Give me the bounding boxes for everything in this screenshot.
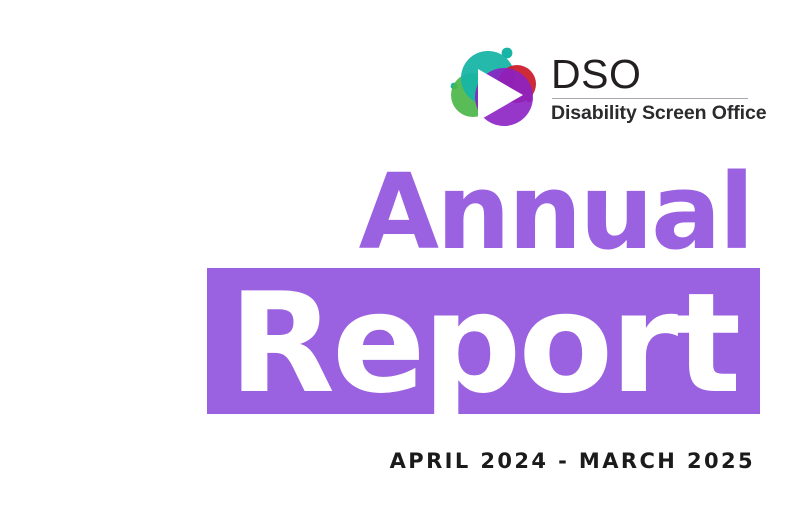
title-line-report: Report <box>207 268 760 414</box>
dso-play-circles-logo-icon <box>447 44 545 132</box>
title-band-wrapper: Report <box>0 268 800 418</box>
logo-divider-rule <box>552 98 748 99</box>
dso-logo-wordmark: DSO Disability Screen Office <box>551 52 766 124</box>
dso-logo-lockup: DSO Disability Screen Office <box>447 42 759 134</box>
report-date-range: APRIL 2024 - MARCH 2025 <box>0 449 800 473</box>
title-line-annual: Annual <box>0 160 800 268</box>
report-title-block: Annual Report <box>0 160 800 418</box>
logo-acronym: DSO <box>551 54 766 94</box>
logo-tagline: Disability Screen Office <box>551 103 766 123</box>
report-cover-page: DSO Disability Screen Office Annual Repo… <box>0 0 800 528</box>
